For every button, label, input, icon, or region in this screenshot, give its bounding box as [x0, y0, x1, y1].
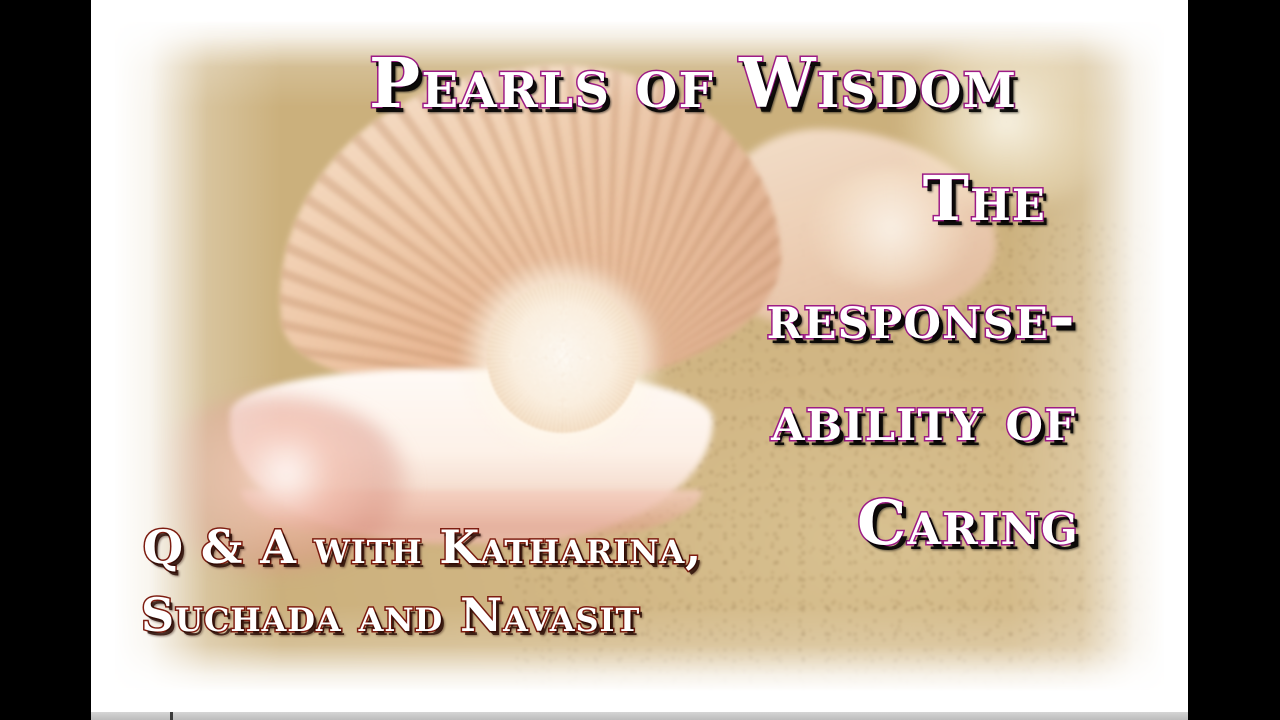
pearl: [487, 283, 639, 433]
background-photo-seashell-pearl: [115, 22, 1164, 690]
video-viewport: Pearls of Wisdom The response- ability o…: [0, 0, 1280, 720]
warm-light-flare-secondary: [807, 169, 975, 289]
slide-canvas: Pearls of Wisdom The response- ability o…: [91, 0, 1188, 712]
progress-scrubber[interactable]: [91, 712, 1188, 720]
rose-light-flare: [136, 396, 409, 570]
progress-marker[interactable]: [170, 712, 173, 720]
letterbox-bar-left: [0, 0, 91, 720]
letterbox-bar-right: [1188, 0, 1280, 720]
